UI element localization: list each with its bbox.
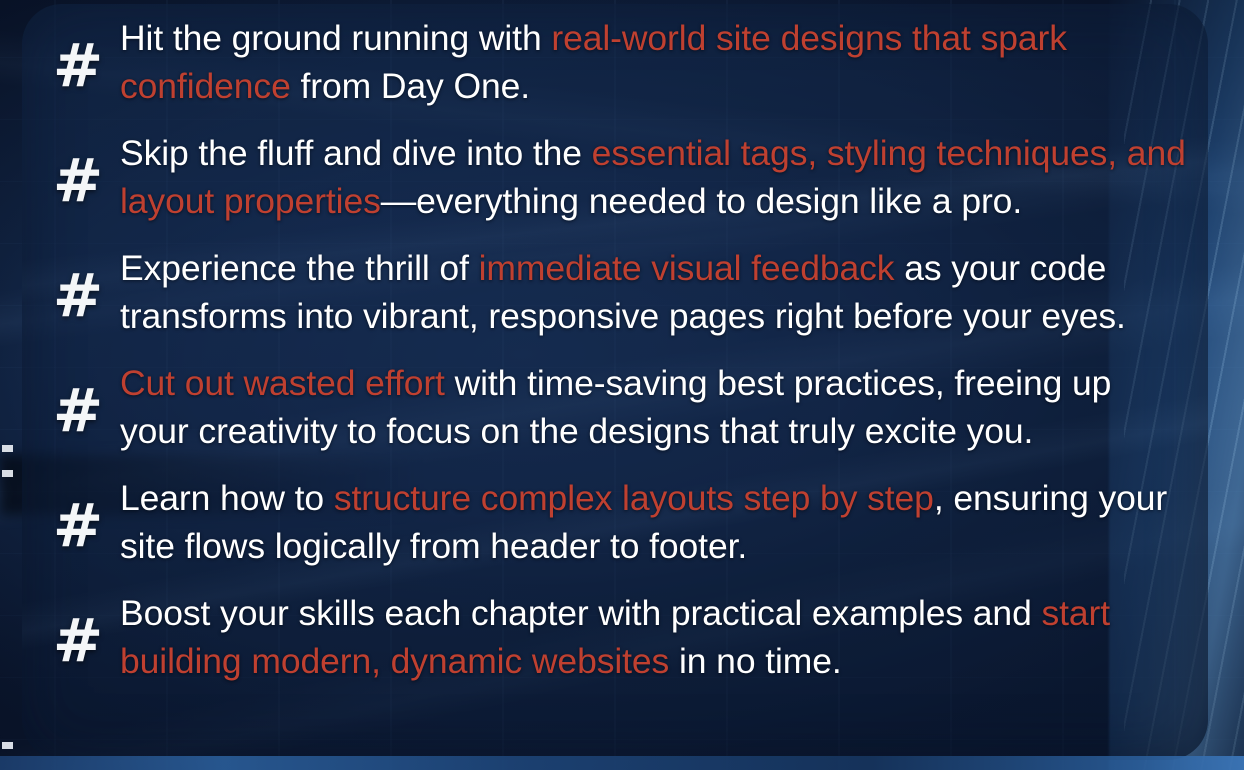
bullet-item: #Skip the fluff and dive into the essent… [36, 129, 1188, 225]
body-text: in no time. [669, 641, 841, 681]
bullet-item: #Learn how to structure complex layouts … [36, 474, 1188, 570]
hash-icon: # [36, 151, 120, 211]
bullet-text: Cut out wasted effort with time-saving b… [120, 359, 1188, 455]
bullet-text: Skip the fluff and dive into the essenti… [120, 129, 1188, 225]
hash-icon: # [36, 496, 120, 556]
bullet-text: Experience the thrill of immediate visua… [120, 244, 1188, 340]
benefits-bullet-list: #Hit the ground running with real-world … [0, 0, 1244, 770]
bullet-item: #Hit the ground running with real-world … [36, 14, 1188, 110]
bullet-item: #Cut out wasted effort with time-saving … [36, 359, 1188, 455]
hash-icon: # [36, 381, 120, 441]
highlight-text: immediate visual feedback [479, 248, 895, 288]
highlight-text: Cut out wasted effort [120, 363, 445, 403]
bullet-text: Boost your skills each chapter with prac… [120, 589, 1188, 685]
bullet-item: #Boost your skills each chapter with pra… [36, 589, 1188, 685]
bullet-text: Hit the ground running with real-world s… [120, 14, 1188, 110]
hash-icon: # [36, 266, 120, 326]
body-text: Skip the fluff and dive into the [120, 133, 592, 173]
hash-icon: # [36, 36, 120, 96]
bullet-text: Learn how to structure complex layouts s… [120, 474, 1188, 570]
hash-icon: # [36, 611, 120, 671]
body-text: Learn how to [120, 478, 334, 518]
highlight-text: structure complex layouts step by step [334, 478, 934, 518]
body-text: —everything needed to design like a pro. [381, 181, 1022, 221]
bottom-edge-sliver [0, 756, 1244, 770]
bullet-item: #Experience the thrill of immediate visu… [36, 244, 1188, 340]
slide-canvas: #Hit the ground running with real-world … [0, 0, 1244, 770]
body-text: Experience the thrill of [120, 248, 479, 288]
body-text: from Day One. [291, 66, 530, 106]
body-text: Boost your skills each chapter with prac… [120, 593, 1042, 633]
body-text: Hit the ground running with [120, 18, 551, 58]
